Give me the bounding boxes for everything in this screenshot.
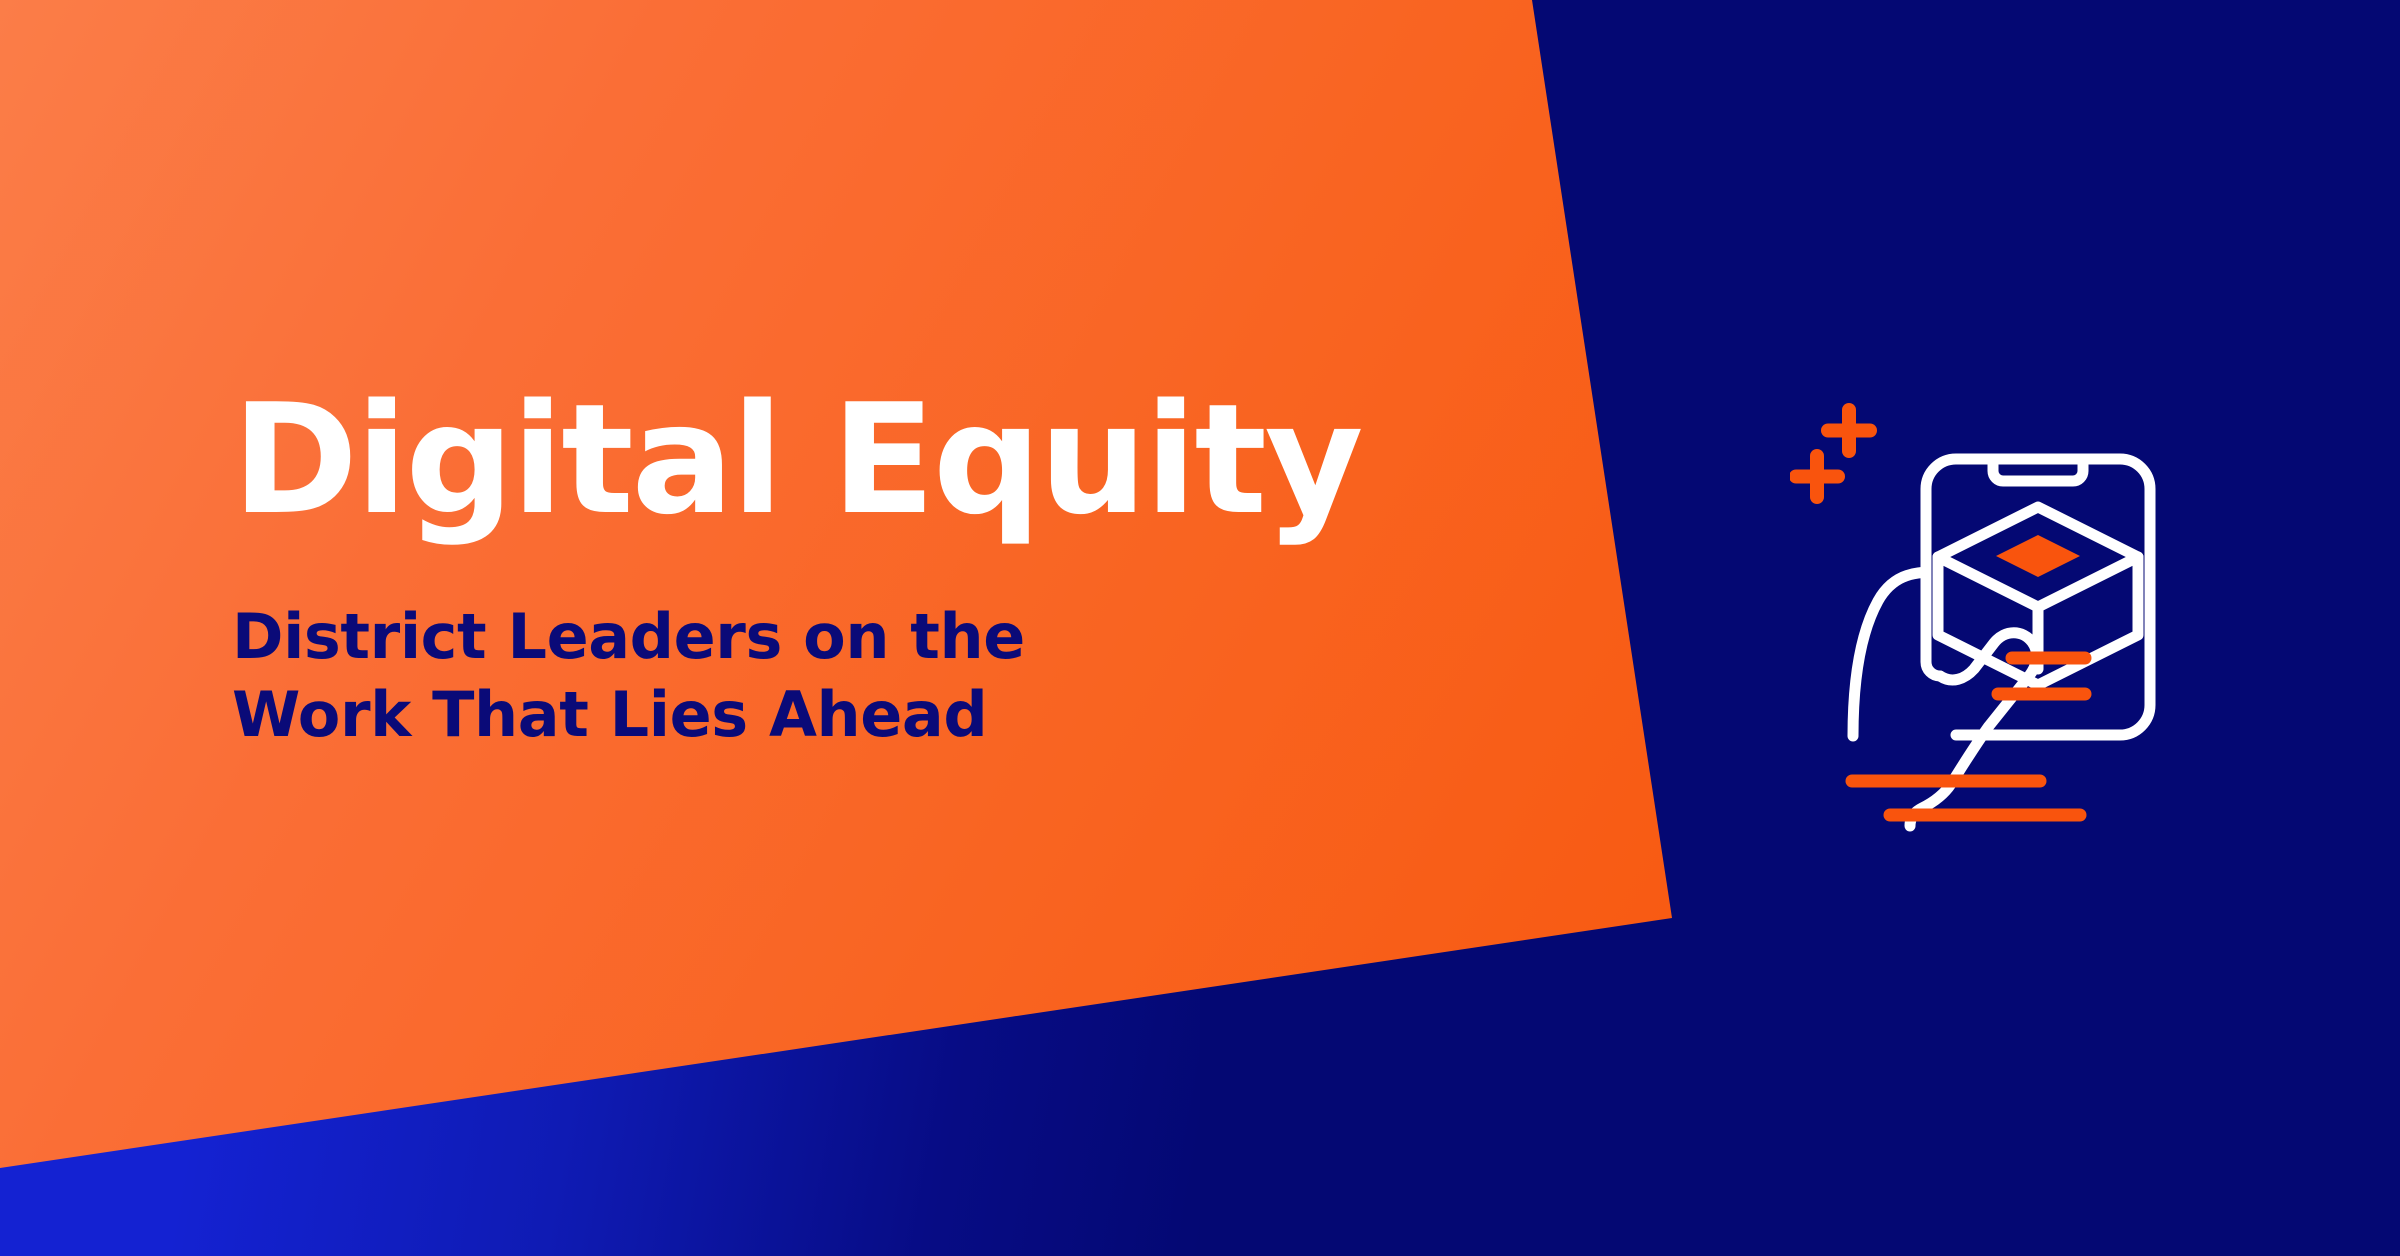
plus-mark-lower-icon xyxy=(1796,456,1838,497)
banner-text-block: Digital Equity District Leaders on the W… xyxy=(232,384,1412,754)
page-title: Digital Equity xyxy=(232,384,1412,536)
caption-lines xyxy=(1852,781,2080,815)
ar-cube-top-diamond-icon xyxy=(1996,535,2080,577)
hand-holding-tablet-illustration xyxy=(1790,385,2230,945)
page-subtitle-line-1: District Leaders on the xyxy=(232,598,1412,676)
plus-mark-upper-icon xyxy=(1828,410,1870,451)
page-subtitle: District Leaders on the Work That Lies A… xyxy=(232,536,1412,754)
page-subtitle-line-2: Work That Lies Ahead xyxy=(232,676,1412,754)
banner-canvas: Digital Equity District Leaders on the W… xyxy=(0,0,2400,1256)
illustration-svg xyxy=(1790,385,2230,945)
